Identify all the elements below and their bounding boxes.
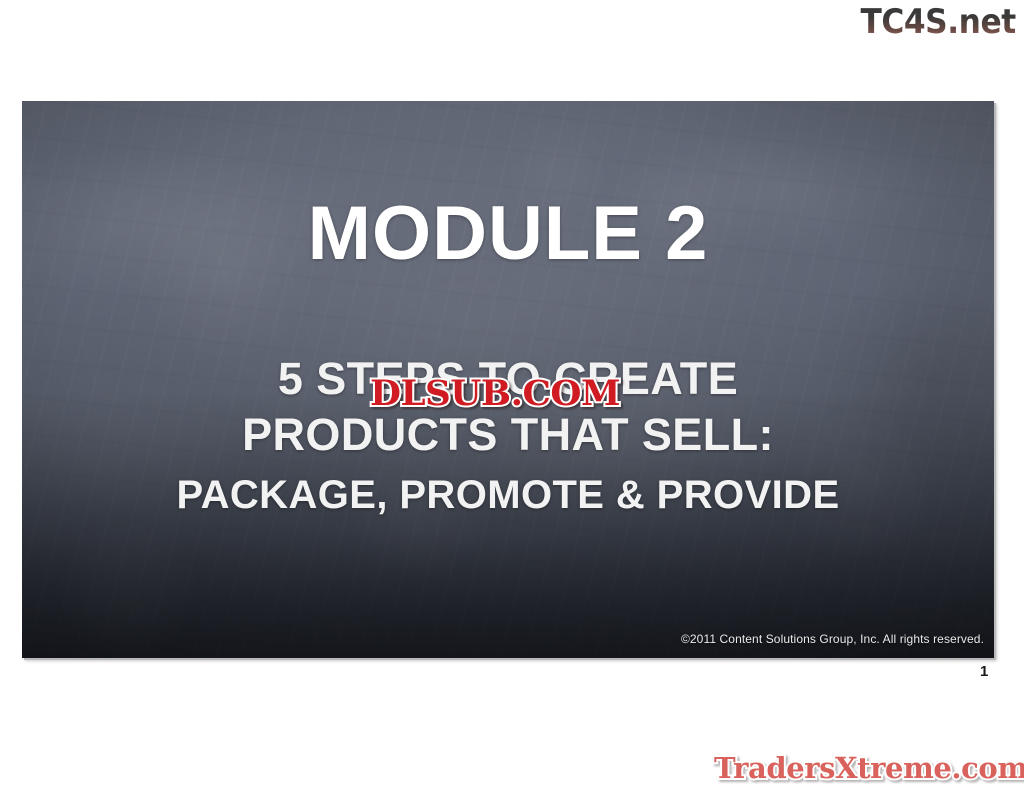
- page-number: 1: [980, 663, 988, 681]
- slide-subtitle-line-2: PRODUCTS THAT SELL:: [242, 409, 774, 460]
- copyright-notice: ©2011 Content Solutions Group, Inc. All …: [681, 631, 984, 647]
- dlsub-overlay-watermark: DLSUB.COM: [370, 374, 620, 414]
- tc4s-site-watermark: TC4S.net: [861, 2, 1016, 42]
- slide-subtitle-line-3: PACKAGE, PROMOTE & PROVIDE: [22, 469, 994, 521]
- slide-title: MODULE 2: [22, 192, 994, 276]
- tradersxtreme-site-watermark: TradersXtreme.com: [714, 750, 1024, 786]
